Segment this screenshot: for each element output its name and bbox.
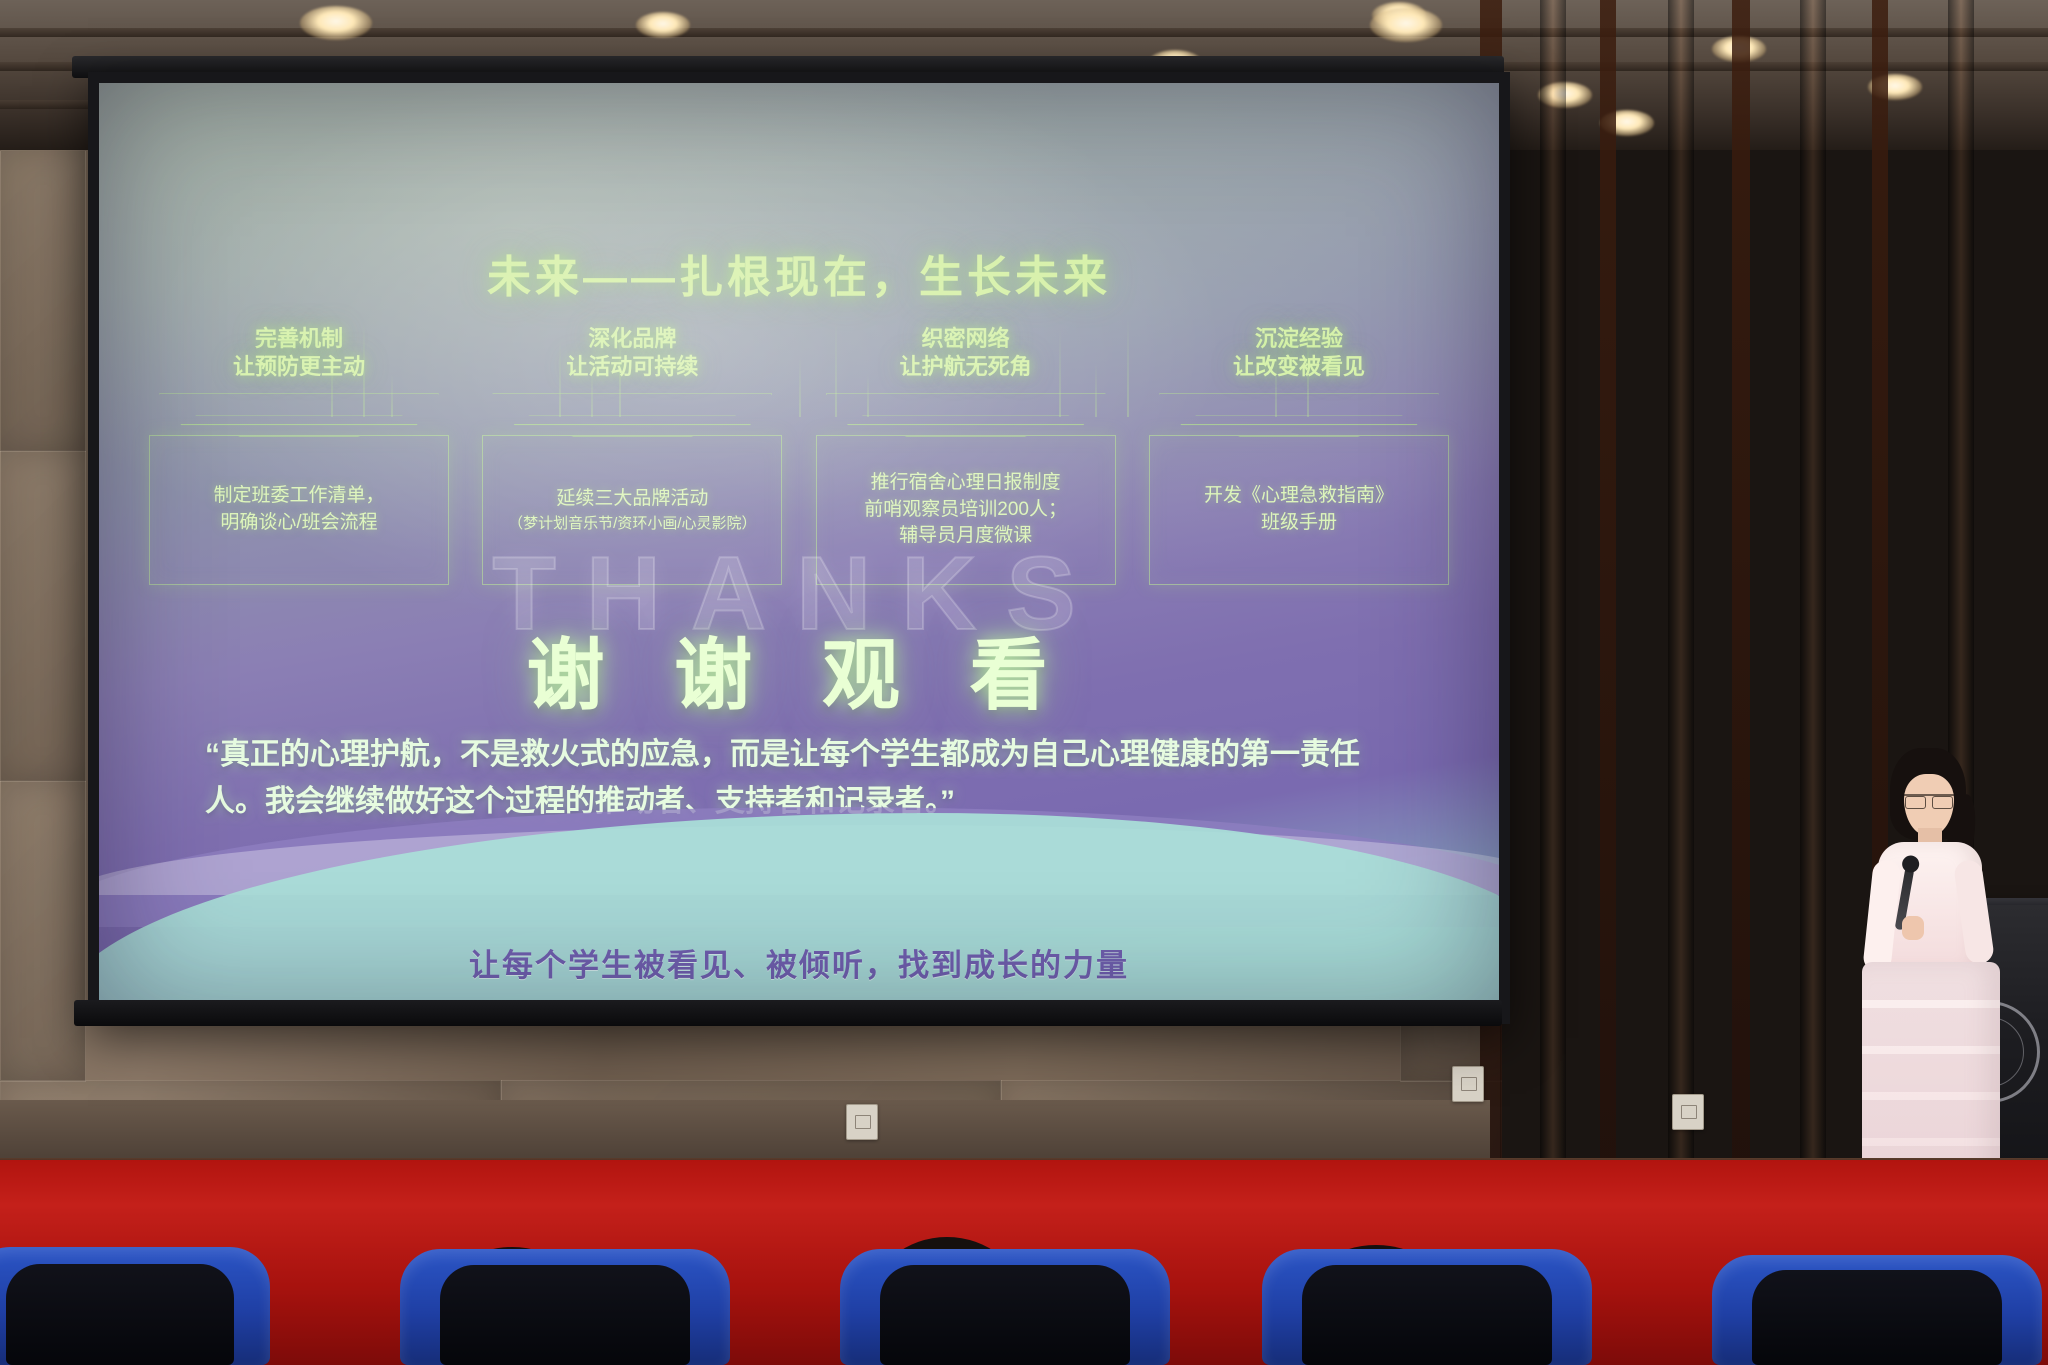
slide-title: 未来——扎根现在，生长未来 [99,241,1499,305]
pillar-detail-row: 制定班委工作清单， 明确谈心/班会流程 延续三大品牌活动 （梦计划音乐节/资环小… [149,435,1449,585]
detail-box-3-line3: 辅导员月度微课 [864,523,1067,550]
downlight [300,6,372,40]
detail-box-3: 推行宿舍心理日报制度 前哨观察员培训200人； 辅导员月度微课 [816,435,1116,585]
detail-box-4-line1: 开发《心理急救指南》 [1204,483,1394,510]
glasses-icon [1904,794,1954,808]
screen-bottom-bar [74,1000,1502,1026]
wall-panel [0,150,86,452]
detail-box-4-line2: 班级手册 [1204,510,1394,537]
chair-seatback [6,1264,234,1365]
audience-chair [400,1249,730,1365]
ceiling-banner-text [300,0,1200,26]
wall-panel [0,450,86,782]
detail-box-2-sub: （梦计划音乐节/资环小画/心灵影院） [508,513,756,534]
wall-panel [0,780,86,1082]
wall-outlet[interactable] [1672,1094,1704,1130]
pillar-heading-3-line1: 织密网络 [816,325,1116,353]
pillar-heading-1-line2: 让预防更主动 [149,353,449,381]
wood-seam [1600,0,1616,1215]
wall-outlet[interactable] [846,1104,878,1140]
pillar-heading-4-line1: 沉淀经验 [1149,325,1449,353]
detail-box-3-line1: 推行宿舍心理日报制度 [864,470,1067,497]
chevron-shape-3 [816,385,1116,431]
detail-box-1-line2: 明确谈心/班会流程 [213,510,384,537]
pillar-heading-4-line2: 让改变被看见 [1149,353,1449,381]
downlight [1370,8,1442,42]
detail-box-2-line1: 延续三大品牌活动 [508,486,756,513]
chevron-shape-1 [149,385,449,431]
auditorium-scene: 未来——扎根现在，生长未来 完善机制 让预防更主动 深化品牌 让活动可持续 [0,0,2048,1365]
audience-chair [840,1249,1170,1365]
detail-box-2: 延续三大品牌活动 （梦计划音乐节/资环小画/心灵影院） [482,435,782,585]
detail-box-4-text: 开发《心理急救指南》 班级手册 [1204,483,1394,537]
audience-chair [0,1247,270,1365]
pillar-heading-1-line1: 完善机制 [149,325,449,353]
wood-highlight [1800,0,1826,1215]
wall-baseboard [0,1100,1490,1162]
wood-highlight [1668,0,1694,1215]
chair-seatback [1752,1270,2003,1365]
chevron-shape-2 [482,385,782,431]
pillar-heading-2: 深化品牌 让活动可持续 [482,319,782,381]
slide-canvas: 未来——扎根现在，生长未来 完善机制 让预防更主动 深化品牌 让活动可持续 [99,83,1499,1013]
slide-tagline: 让每个学生被看见、被倾听，找到成长的力量 [99,940,1499,985]
pillar-heading-4: 沉淀经验 让改变被看见 [1149,319,1449,381]
downlight [636,12,690,38]
detail-box-3-line2: 前哨观察员培训200人； [864,497,1067,524]
wall-outlet[interactable] [1452,1066,1484,1102]
chevron-shape-4 [1149,385,1449,431]
pillar-heading-2-line2: 让活动可持续 [482,353,782,381]
detail-box-1: 制定班委工作清单， 明确谈心/班会流程 [149,435,449,585]
audience-chair [1262,1249,1592,1365]
hand [1902,916,1924,940]
chair-seatback [1302,1265,1553,1365]
audience-chair [1712,1255,2042,1365]
pillar-heading-1: 完善机制 让预防更主动 [149,319,449,381]
detail-box-2-text: 延续三大品牌活动 （梦计划音乐节/资环小画/心灵影院） [508,486,756,534]
pillar-heading-3: 织密网络 让护航无死角 [816,319,1116,381]
detail-box-4: 开发《心理急救指南》 班级手册 [1149,435,1449,585]
pillar-heading-3-line2: 让护航无死角 [816,353,1116,381]
detail-box-1-text: 制定班委工作清单， 明确谈心/班会流程 [213,483,384,537]
thanks-chinese-heading: 谢 谢 观 看 [99,613,1499,725]
detail-box-1-line1: 制定班委工作清单， [213,483,384,510]
pillar-heading-2-line1: 深化品牌 [482,325,782,353]
detail-box-3-text: 推行宿舍心理日报制度 前哨观察员培训200人； 辅导员月度微课 [864,470,1067,551]
wood-seam [1732,0,1750,1215]
projection-screen[interactable]: 未来——扎根现在，生长未来 完善机制 让预防更主动 深化品牌 让活动可持续 [88,72,1510,1024]
wood-highlight [1540,0,1566,1215]
chair-seatback [880,1265,1131,1365]
chair-seatback [440,1265,691,1365]
